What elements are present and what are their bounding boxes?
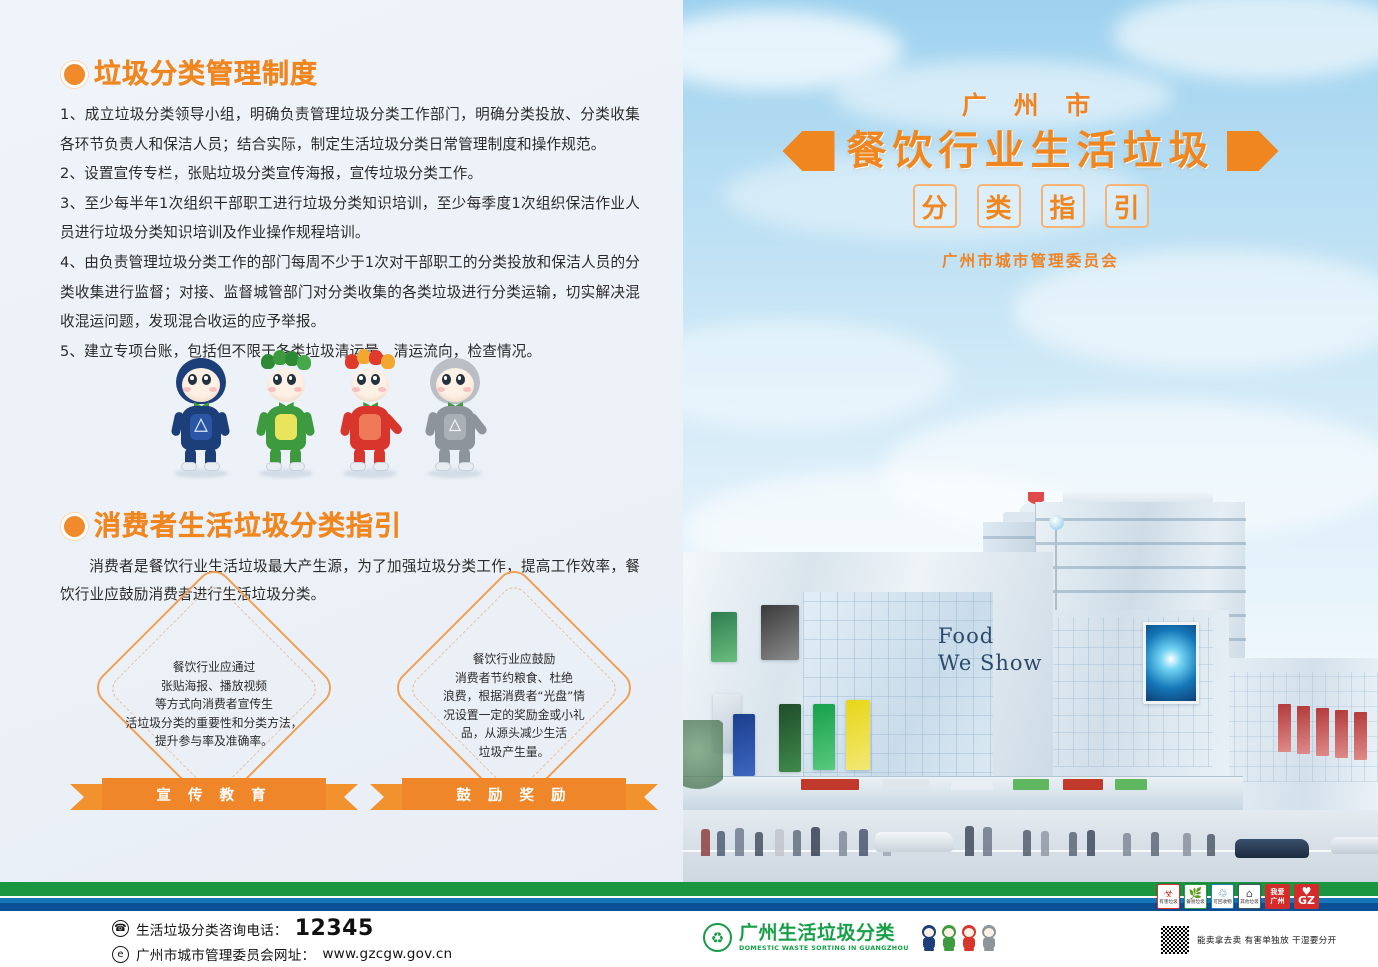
other-waste-badge-label: 其他垃圾 — [1240, 900, 1258, 905]
diamond-card-incentive-reward: 餐饮行业应鼓励 消费者节约粮食、杜绝 浪费，根据消费者“光盘”情 况设置一定的奖… — [370, 600, 658, 850]
title-city-line: 广 州 市 — [683, 86, 1378, 122]
other-waste-mascot — [422, 354, 488, 478]
other-waste-symbol-icon — [446, 417, 464, 435]
recyclable-mascot — [168, 354, 234, 478]
pedestrian — [1151, 832, 1159, 856]
pedestrian — [839, 831, 847, 856]
phone-label: 生活垃圾分类咨询电话： — [136, 919, 288, 939]
sorting-slogan: 能卖拿去卖 有害单独放 干湿要分开 — [1197, 934, 1336, 946]
other-waste-badge: ⌂ 其他垃圾 — [1238, 884, 1261, 909]
rule-item-4: 4、由负责管理垃圾分类工作的部门每周不少于1次对干部职工的分类投放和保洁人员的分… — [60, 248, 640, 337]
brand-name-en: DOMESTIC WASTE SORTING IN GUANGZHOU — [739, 945, 909, 951]
diamond-1-text: 餐饮行业应通过 张贴海报、播放视频 等方式向消费者宣传生 活垃圾分类的重要性和分… — [70, 658, 358, 751]
facade-ad-panel — [711, 612, 737, 662]
qr-block: 能卖拿去卖 有害单独放 干湿要分开 — [1160, 925, 1336, 955]
brand-mascot-group — [920, 925, 998, 951]
section1-body: 1、成立垃圾分类领导小组，明确负责管理垃圾分类工作部门，明确分类投放、分类收集各… — [60, 100, 640, 366]
pedestrian — [755, 832, 763, 856]
brand-block: ♻ 广州生活垃圾分类 DOMESTIC WASTE SORTING IN GUA… — [703, 923, 998, 952]
facade-ad-panel — [761, 605, 799, 660]
street-tree — [683, 720, 723, 798]
cloud-shape — [683, 320, 953, 430]
recyclable-badge-label: 可回收物 — [1213, 900, 1231, 905]
title-sub-char-4: 引 — [1105, 184, 1149, 228]
chevron-right-block-icon — [1227, 131, 1279, 171]
pedestrian — [983, 827, 992, 856]
shop-sign — [1063, 779, 1103, 790]
diamond-1-ribbon-label: 宣 传 教 育 — [156, 784, 271, 805]
leaf-glyph-icon: 🌿 — [1189, 888, 1203, 900]
pedestrian — [1123, 833, 1131, 856]
pedestrian — [1183, 833, 1191, 856]
right-cover-panel: 广 州 市 餐饮行业生活垃圾 分 类 指 引 广州市城市管理委员会 — [683, 0, 1378, 882]
food-waste-badge-label: 餐厨垃圾 — [1186, 900, 1204, 905]
far-mall-glass-grid — [1208, 672, 1378, 782]
ribbon-tail-left — [70, 784, 106, 810]
title-main-row: 餐饮行业生活垃圾 — [683, 131, 1378, 171]
diamond-2-ribbon-label: 鼓 励 奖 励 — [456, 784, 571, 805]
phone-number: 12345 — [295, 916, 374, 941]
street-banner — [1316, 708, 1329, 756]
ribbon-center: 鼓 励 奖 励 — [402, 778, 626, 810]
street-banner — [1278, 704, 1291, 752]
street-banner — [1297, 706, 1310, 754]
stamp-line-2: 广州 — [1271, 897, 1285, 906]
poster-page: 垃圾分类管理制度 1、成立垃圾分类领导小组，明确负责管理垃圾分类工作部门，明确分… — [0, 0, 1378, 961]
left-content-panel: 垃圾分类管理制度 1、成立垃圾分类领导小组，明确负责管理垃圾分类工作部门，明确分… — [0, 0, 683, 882]
contact-block: ☎ 生活垃圾分类咨询电话： 12345 e 广州市城市管理委员会网址： www.… — [112, 916, 452, 967]
filled-circle-icon — [64, 64, 85, 85]
website-label: 广州市城市管理委员会网址： — [136, 944, 315, 964]
pedestrian — [811, 827, 820, 856]
ribbon-center: 宣 传 教 育 — [102, 778, 326, 810]
section-heading-management-system: 垃圾分类管理制度 — [64, 61, 318, 88]
contact-row-website[interactable]: e 广州市城市管理委员会网址： www.gzcgw.gov.cn — [112, 944, 452, 964]
large-led-billboard — [1143, 622, 1199, 704]
title-sub-char-3: 指 — [1041, 184, 1085, 228]
shop-sign — [801, 779, 859, 790]
section-heading-consumer-guide: 消费者生活垃圾分类指引 — [64, 513, 402, 540]
food-waste-mini-mascot — [940, 925, 958, 951]
stamp-line-1: 我爱 — [1271, 888, 1285, 897]
hazardous-waste-mascot — [337, 354, 403, 478]
title-sub-row: 分 类 指 引 — [683, 184, 1378, 228]
shop-sign — [1115, 779, 1147, 790]
recyclable-badge: ♲ 可回收物 — [1211, 884, 1234, 909]
brand-texts: 广州生活垃圾分类 DOMESTIC WASTE SORTING IN GUANG… — [739, 924, 909, 951]
website-url[interactable]: www.gzcgw.gov.cn — [322, 946, 452, 962]
street-lamp-head — [1049, 515, 1064, 530]
contact-row-phone: ☎ 生活垃圾分类咨询电话： 12345 — [112, 916, 452, 941]
title-sub-char-2: 类 — [977, 184, 1021, 228]
shop-sign — [883, 779, 929, 790]
stamp-gz-label: GZ — [1298, 897, 1315, 906]
title-main-line: 餐饮行业生活垃圾 — [847, 131, 1215, 171]
section2-title: 消费者生活垃圾分类指引 — [94, 513, 402, 540]
shop-sign — [951, 779, 993, 790]
pedestrian — [1087, 830, 1095, 856]
recycle-glyph-icon: ♲ — [1218, 888, 1228, 900]
pedestrian — [1207, 834, 1215, 856]
other-waste-glyph-icon: ⌂ — [1246, 888, 1253, 900]
title-sub-char-1: 分 — [913, 184, 957, 228]
street-car — [1235, 839, 1309, 858]
diamond-1-ribbon: 宣 传 教 育 — [70, 778, 358, 810]
cloud-shape — [1113, 0, 1378, 80]
globe-icon: e — [112, 946, 129, 963]
section1-title: 垃圾分类管理制度 — [94, 61, 318, 88]
shop-sign — [1013, 779, 1049, 790]
building-sign-text: Food We Show — [938, 623, 1043, 677]
ribbon-tail-right — [322, 784, 358, 810]
rule-item-2: 2、设置宣传专栏，张贴垃圾分类宣传海报，宣传垃圾分类工作。 — [60, 159, 640, 189]
diamond-2-ribbon: 鼓 励 奖 励 — [370, 778, 658, 810]
rule-item-1: 1、成立垃圾分类领导小组，明确负责管理垃圾分类工作部门，明确分类投放、分类收集各… — [60, 100, 640, 159]
issuing-organization: 广州市城市管理委员会 — [683, 249, 1378, 271]
cover-title-block: 广 州 市 餐饮行业生活垃圾 分 类 指 引 广州市城市管理委员会 — [683, 86, 1378, 271]
pedestrian — [1041, 831, 1049, 856]
qr-code-icon[interactable] — [1160, 925, 1190, 955]
pedestrian — [701, 829, 710, 856]
pedestrian — [965, 826, 974, 856]
facade-ad-panel — [779, 704, 801, 772]
other-waste-mini-mascot — [980, 925, 998, 951]
mascot-group — [168, 352, 488, 478]
filled-circle-icon — [64, 516, 85, 537]
pedestrian — [775, 829, 784, 856]
ribbon-tail-left — [370, 784, 406, 810]
brand-name-cn: 广州生活垃圾分类 — [739, 924, 909, 943]
facade-ad-panel — [813, 704, 835, 770]
hazardous-waste-badge: ☣ 有害垃圾 — [1157, 884, 1180, 909]
gz-heart-stamp: ♥ GZ — [1294, 884, 1319, 909]
telephone-icon: ☎ — [112, 920, 129, 937]
pedestrian — [793, 830, 801, 856]
street-banner — [1335, 710, 1348, 758]
facade-ad-panel — [733, 714, 755, 776]
pedestrian — [1023, 830, 1031, 856]
i-love-guangzhou-stamp: 我爱 广州 — [1265, 884, 1290, 909]
recycle-seal-icon: ♻ — [703, 923, 732, 952]
footer-content: ☎ 生活垃圾分类咨询电话： 12345 e 广州市城市管理委员会网址： www.… — [0, 911, 1378, 961]
pedestrian — [859, 829, 868, 856]
hazardous-waste-mini-mascot — [960, 925, 978, 951]
food-waste-mascot — [253, 354, 319, 478]
pedestrian — [1069, 832, 1077, 856]
pedestrian — [717, 831, 725, 856]
street-banner — [1354, 712, 1367, 760]
diamond-card-publicity-education: 餐饮行业应通过 张贴海报、播放视频 等方式向消费者宣传生 活垃圾分类的重要性和分… — [70, 600, 358, 850]
diamond-2-text: 餐饮行业应鼓励 消费者节约粮食、杜绝 浪费，根据消费者“光盘”情 况设置一定的奖… — [370, 650, 658, 761]
street-car — [1331, 837, 1378, 854]
recyclable-mini-mascot — [920, 925, 938, 951]
food-waste-badge: 🌿 餐厨垃圾 — [1184, 884, 1207, 909]
chevron-left-block-icon — [783, 131, 835, 171]
pedestrian — [735, 828, 744, 856]
hazard-glyph-icon: ☣ — [1164, 888, 1174, 900]
ribbon-tail-right — [622, 784, 658, 810]
recycle-symbol-icon — [192, 417, 210, 435]
facade-ad-panel — [846, 700, 870, 770]
rule-item-3: 3、至少每半年1次组织干部职工进行垃圾分类知识培训，至少每季度1次组织保洁作业人… — [60, 189, 640, 248]
parked-car — [875, 832, 953, 852]
cityscape-illustration: Food We Show — [683, 492, 1378, 882]
waste-category-badge-group: ☣ 有害垃圾 🌿 餐厨垃圾 ♲ 可回收物 ⌂ 其他垃圾 我爱 广州 ♥ GZ — [1157, 883, 1319, 910]
hazardous-waste-badge-label: 有害垃圾 — [1159, 900, 1177, 905]
